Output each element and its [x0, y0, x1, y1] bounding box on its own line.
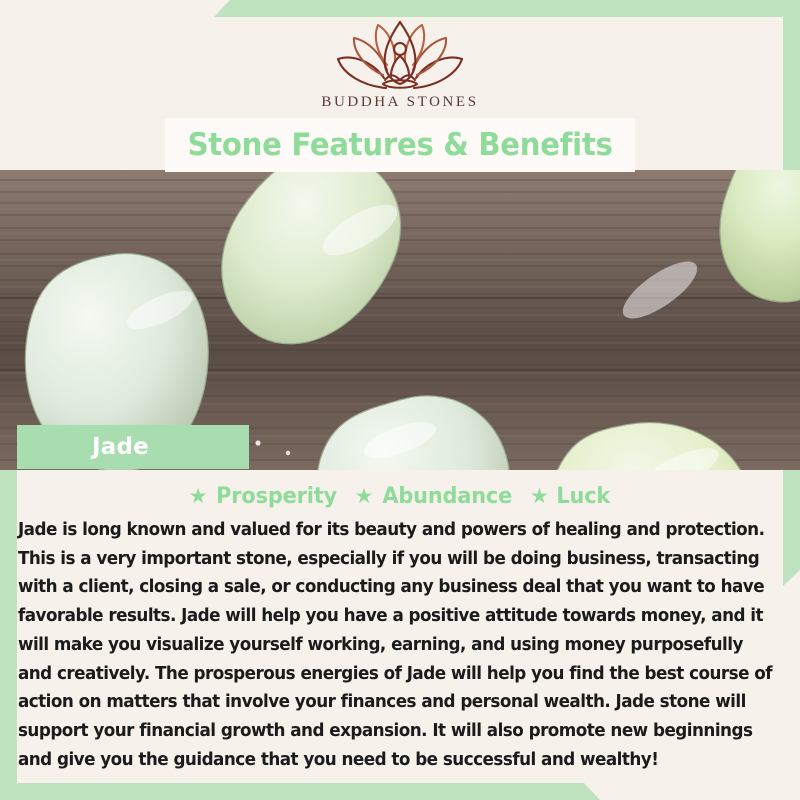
- brand-logo: BUDDHA STONES: [0, 18, 800, 111]
- brand-name: BUDDHA STONES: [0, 94, 800, 111]
- infographic-page: BUDDHA STONES Stone Features & Benefits: [0, 0, 800, 800]
- star-icon: ★: [355, 486, 374, 507]
- lotus-meditation-icon: [325, 18, 475, 92]
- benefits-list: ★ Prosperity ★ Abundance ★ Luck: [17, 470, 783, 512]
- description-text: Jade is long known and valued for its be…: [17, 516, 784, 774]
- benefit-label: Prosperity: [217, 484, 338, 509]
- star-icon: ★: [530, 486, 549, 507]
- content-panel: ★ Prosperity ★ Abundance ★ Luck Jade is …: [17, 470, 783, 783]
- benefit-label: Luck: [556, 484, 610, 509]
- star-icon: ★: [189, 486, 208, 507]
- stone-name-chip: Jade: [17, 425, 249, 469]
- page-title: Stone Features & Benefits: [188, 127, 613, 163]
- benefit-item-abundance: ★ Abundance: [355, 484, 516, 509]
- stone-name-label: Jade: [92, 434, 149, 460]
- benefit-item-prosperity: ★ Prosperity: [189, 484, 341, 509]
- benefit-item-luck: ★ Luck: [530, 484, 611, 509]
- benefit-label: Abundance: [383, 484, 513, 509]
- decorative-bottom-bar: [0, 783, 600, 800]
- decorative-top-bar: [214, 0, 800, 17]
- page-title-banner: Stone Features & Benefits: [165, 118, 635, 172]
